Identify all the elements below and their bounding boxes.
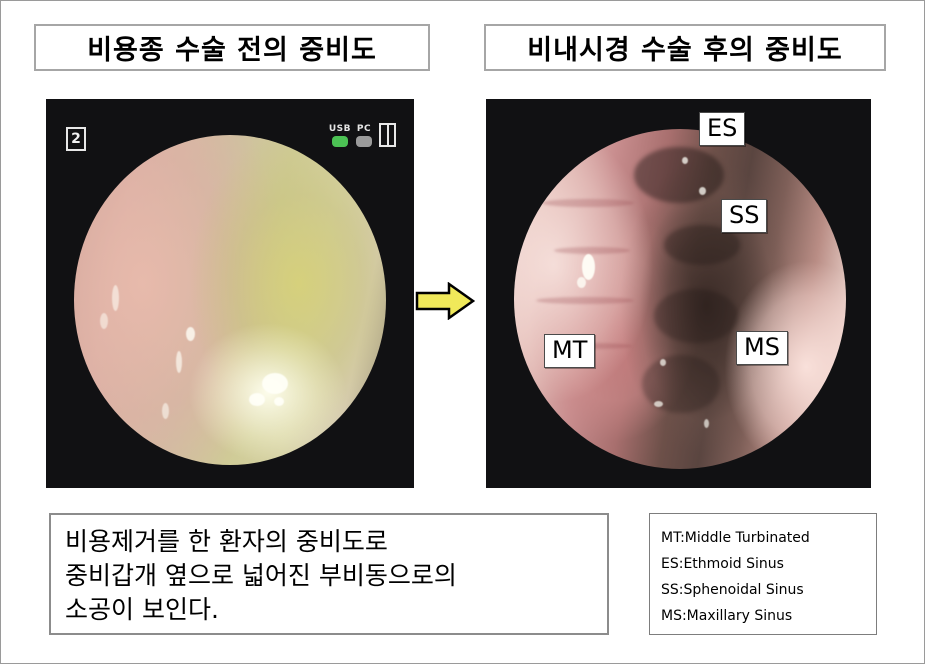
- osd-pc-group: PC: [356, 125, 372, 147]
- mucosal-vessel: [536, 297, 634, 304]
- osd-usb-group: USB: [329, 125, 351, 147]
- endoscope-field-after: [514, 129, 846, 469]
- specular-highlight: [162, 403, 169, 419]
- specular-highlight: [186, 327, 195, 341]
- title-box-after: 비내시경 수술 후의 중비도: [484, 24, 886, 71]
- endoscopy-photo-after: ES SS MT MS: [486, 99, 871, 488]
- specular-highlight: [582, 254, 595, 280]
- mucosal-vessel: [554, 247, 630, 254]
- anatomy-label-mt: MT: [544, 334, 595, 368]
- title-box-before: 비용종 수술 전의 중비도: [34, 24, 430, 71]
- endoscopy-photo-before: 2 USB PC: [46, 99, 414, 488]
- caption-box: 비용제거를 한 환자의 중비도로 중비갑개 옆으로 넓어진 부비동으로의 소공이…: [49, 513, 609, 635]
- pc-led-icon: [356, 136, 372, 147]
- abbreviation-legend-box: MT:Middle Turbinated ES:Ethmoid Sinus SS…: [649, 513, 877, 635]
- specular-highlight: [577, 277, 586, 288]
- slide-canvas: 비용종 수술 전의 중비도 비내시경 수술 후의 중비도 2 USB PC: [0, 0, 925, 664]
- caption-line-3: 소공이 보인다.: [65, 593, 607, 627]
- specular-highlight: [660, 359, 666, 366]
- specular-highlight: [176, 351, 182, 373]
- specular-highlight: [654, 401, 663, 407]
- specular-highlight: [262, 373, 288, 394]
- specular-highlight: [704, 419, 709, 428]
- specular-highlight: [274, 397, 284, 406]
- legend-item: MS:Maxillary Sinus: [661, 603, 876, 629]
- specular-highlight: [249, 393, 265, 406]
- specular-highlight: [100, 313, 108, 329]
- caption-line-2: 중비갑개 옆으로 넓어진 부비동으로의: [65, 559, 607, 593]
- legend-item: MT:Middle Turbinated: [661, 525, 876, 551]
- usb-led-icon: [332, 136, 348, 147]
- arrow-right-icon: [415, 282, 475, 320]
- title-text-before: 비용종 수술 전의 중비도: [87, 28, 377, 67]
- anatomy-label-es: ES: [699, 112, 745, 146]
- specular-highlight: [112, 285, 119, 311]
- anatomy-label-ss: SS: [721, 199, 767, 233]
- title-text-after: 비내시경 수술 후의 중비도: [527, 28, 842, 67]
- mucosal-vessel: [542, 199, 634, 207]
- legend-item: ES:Ethmoid Sinus: [661, 551, 876, 577]
- caption-line-1: 비용제거를 한 환자의 중비도로: [65, 525, 607, 559]
- specular-highlight: [699, 187, 706, 195]
- transition-arrow: [415, 282, 475, 320]
- osd-usb-label: USB: [329, 125, 351, 134]
- sinus-fold: [654, 289, 738, 343]
- battery-icon: [379, 123, 396, 147]
- specular-highlight: [682, 157, 688, 164]
- osd-channel-number: 2: [66, 127, 86, 151]
- legend-item: SS:Sphenoidal Sinus: [661, 577, 876, 603]
- sinus-fold: [634, 147, 724, 203]
- anatomy-label-ms: MS: [736, 331, 788, 365]
- osd-pc-label: PC: [357, 125, 371, 134]
- osd-status-group: USB PC: [329, 123, 396, 147]
- endoscope-field-before: [74, 135, 386, 465]
